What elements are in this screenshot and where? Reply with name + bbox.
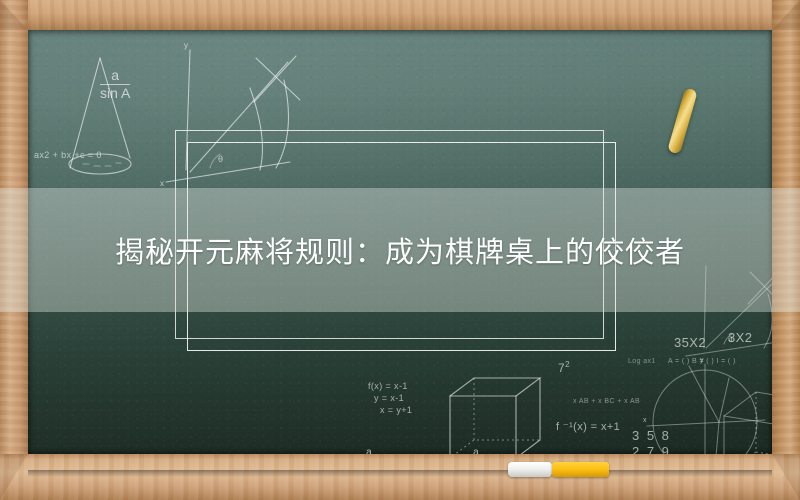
function-line-2: y = x-1	[368, 392, 412, 404]
svg-text:x: x	[643, 417, 647, 424]
tray-shadow	[28, 470, 772, 477]
digits-grid: 3 5 8 2 7 9 6 3 7	[632, 428, 671, 454]
digits-row-2: 2 7 9	[632, 444, 671, 454]
frame-mitre-top-right	[772, 0, 800, 30]
fraction-a-over-sinA-topleft: a sin A	[100, 68, 130, 100]
function-notes-group: f(x) = x-1 y = x-1 x = y+1	[368, 380, 412, 416]
frame-mitre-top-left	[0, 0, 28, 30]
frame-mitre-bottom-left	[0, 454, 28, 500]
svg-text:x: x	[160, 179, 164, 188]
frame-bottom-tray	[0, 454, 800, 500]
function-line-1: f(x) = x-1	[368, 380, 412, 392]
inverse-function-note: f ⁻¹(x) = x+1	[556, 420, 620, 433]
matrix-label-35x2: 35X2	[674, 335, 706, 350]
seven-squared-note: 72	[558, 360, 570, 375]
page-title: 揭秘开元麻将规则：成为棋牌桌上的佼佼者	[0, 188, 800, 312]
frame-mitre-bottom-right	[772, 454, 800, 500]
frame-top-rail	[0, 0, 800, 30]
chalkboard-banner: y x θ a sin A ax2 + bx +c = 0 f	[0, 0, 800, 500]
white-chalk-piece	[508, 462, 552, 477]
digits-row-1: 3 5 8	[632, 428, 671, 444]
matrix-label-3x2: 3X2	[728, 330, 752, 345]
cube-drawing-right	[716, 380, 772, 454]
svg-text:y: y	[700, 357, 704, 364]
cube-drawing-left	[440, 370, 570, 454]
fraction-a-over-sinA-left: a sin A	[358, 448, 380, 454]
quadratic-equation-note: ax2 + bx +c = 0	[34, 150, 102, 160]
function-line-3: x = y+1	[368, 404, 412, 416]
yellow-chalk-piece	[552, 462, 609, 477]
set-expression-note: x AB + x BC + x AB	[573, 398, 640, 405]
fraction-a-over-sinA-mid: a sin A	[465, 448, 487, 454]
svg-text:y: y	[184, 41, 188, 50]
